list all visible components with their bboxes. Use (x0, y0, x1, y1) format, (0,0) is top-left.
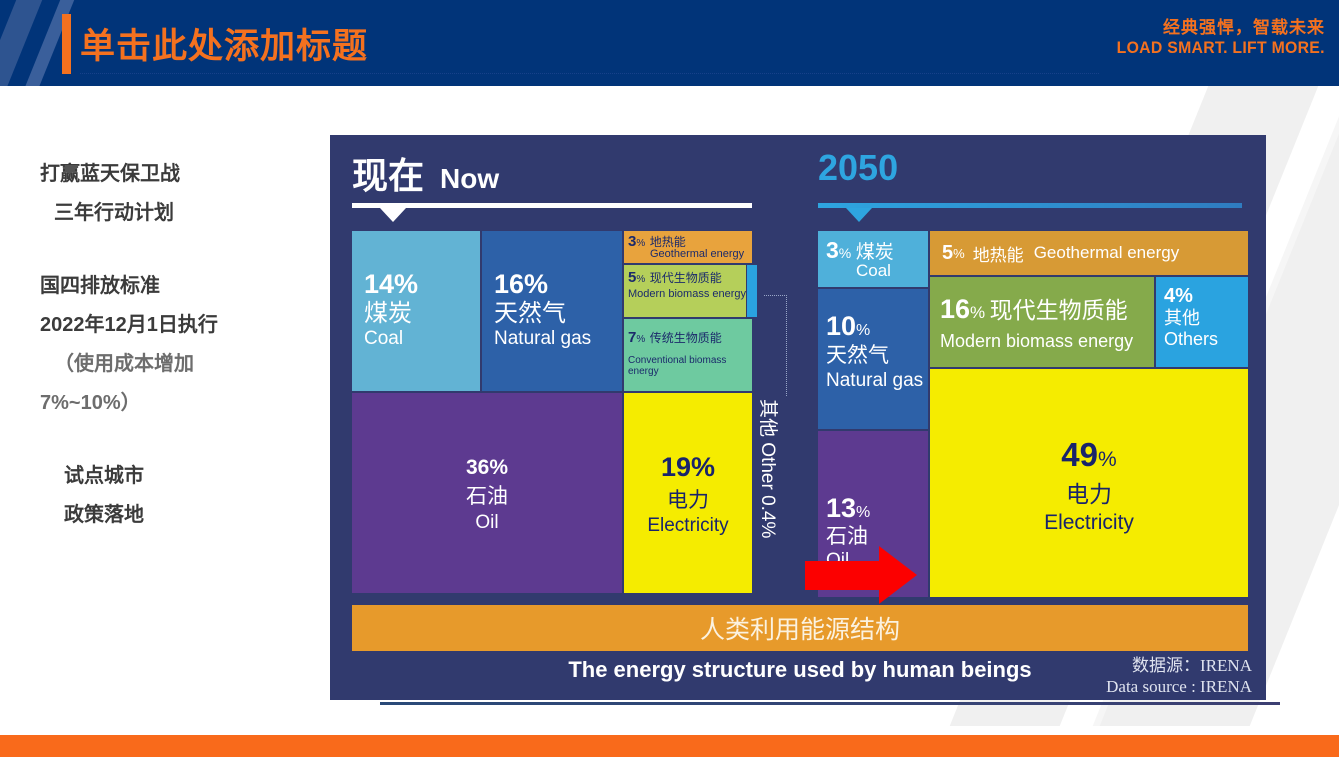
block-now-conv-biomass-cn: 传统生物质能 (650, 331, 722, 345)
block-now-electricity[interactable]: 19% 电力 Electricity (624, 393, 752, 593)
rule-bar-now (352, 203, 752, 208)
column-header-now: 现在 Now (352, 147, 499, 199)
block-2050-electricity-value: 49% (1061, 430, 1116, 480)
block-now-geothermal-cn: 地热能 (650, 235, 686, 249)
block-2050-oil-unit: % (856, 504, 870, 521)
chart-data-source-cn: 数据源：IRENA (1106, 655, 1252, 676)
block-now-coal-cn: 煤炭 (364, 300, 480, 328)
block-now-geothermal-en: Geothermal energy (650, 248, 752, 260)
block-now-conv-biomass-en: Conventional biomass energy (628, 355, 752, 377)
block-now-modern-biomass-unit: % (636, 274, 645, 285)
block-2050-others-pct: 4% (1164, 285, 1193, 307)
brand-slogan-cn: 经典强悍，智载未来 (1101, 17, 1325, 38)
column-header-2050-cn: 2050 (818, 147, 898, 189)
other-callout-line (764, 295, 787, 396)
left-line-7: 试点城市 (40, 457, 305, 496)
bottom-accent-bar (0, 735, 1339, 757)
column-rule-2050 (818, 203, 1242, 208)
block-now-gas-pct: 16% (494, 269, 548, 299)
rule-bar-2050 (818, 203, 1242, 208)
block-2050-gas-unit: % (856, 322, 870, 339)
left-line-5: （使用成本增加 (40, 345, 305, 384)
rule-pointer-2050 (846, 208, 872, 222)
block-now-geothermal[interactable]: 3% 地热能 Geothermal energy (624, 231, 752, 263)
left-line-2: 三年行动计划 (40, 194, 305, 233)
block-now-geothermal-unit: % (636, 238, 645, 249)
chart-caption-cn: 人类利用能源结构 (700, 610, 900, 646)
left-spacer (40, 233, 305, 267)
block-2050-geothermal-pct: 5 (942, 242, 953, 265)
block-2050-electricity-cn: 电力 (1066, 480, 1112, 510)
block-now-gas-cn: 天然气 (494, 300, 622, 328)
column-header-now-cn: 现在 (352, 147, 424, 199)
block-now-conv-biomass-unit: % (636, 334, 645, 345)
brand-block: 经典强悍，智载未来 LOAD SMART. LIFT MORE. (1101, 17, 1325, 59)
block-2050-coal-pct: 3 (826, 237, 839, 263)
block-now-modern-biomass-en: Modern biomass energy (628, 288, 746, 300)
block-now-coal-en: Coal (364, 328, 480, 351)
block-2050-gas-en: Natural gas (826, 369, 928, 393)
block-now-other-label: 其他 Other 0.4% (754, 393, 788, 593)
block-2050-modern-biomass-cn: 现代生物质能 (990, 297, 1128, 323)
block-now-oil-en: Oil (475, 511, 498, 535)
block-2050-others-en: Others (1164, 329, 1248, 350)
block-2050-coal[interactable]: 3% 煤炭 Coal (818, 231, 928, 287)
block-2050-oil-pct: 13 (826, 493, 856, 523)
block-now-modern-biomass[interactable]: 5% 现代生物质能 Modern biomass energy (624, 265, 746, 317)
block-2050-geothermal-en: Geothermal energy (1034, 243, 1180, 263)
bottom-divider-line (380, 702, 1280, 705)
red-arrow-head (879, 546, 917, 604)
block-2050-coal-unit: % (839, 245, 851, 261)
block-now-coal-pct: 14% (364, 269, 418, 299)
block-now-electricity-en: Electricity (647, 514, 728, 538)
block-now-electricity-cn: 电力 (667, 488, 709, 514)
left-line-4: 2022年12月1日执行 (40, 306, 305, 345)
block-2050-modern-biomass-en: Modern biomass energy (940, 331, 1154, 352)
block-now-gas-en: Natural gas (494, 328, 622, 351)
chart-caption-bar: 人类利用能源结构 (352, 605, 1248, 651)
left-line-3: 国四排放标准 (40, 267, 305, 306)
brand-slogan-en: LOAD SMART. LIFT MORE. (1117, 38, 1325, 58)
block-now-conventional-biomass[interactable]: 7% 传统生物质能 Conventional biomass energy (624, 319, 752, 391)
block-2050-coal-en: Coal (856, 261, 928, 281)
energy-structure-chart: 现在 Now 14% 煤炭 Coal 16% 天然气 Natural gas 3… (330, 135, 1266, 700)
block-2050-modern-biomass-pct: 16 (940, 294, 970, 324)
slide-header: 单击此处添加标题 经典强悍，智载未来 LOAD SMART. LIFT MORE… (0, 0, 1339, 86)
column-rule-now (352, 203, 752, 208)
block-now-oil-cn: 石油 (466, 483, 508, 510)
block-2050-electricity-pct: 49 (1061, 436, 1098, 473)
block-2050-coal-cn: 煤炭 (856, 242, 894, 263)
block-2050-electricity-unit: % (1098, 448, 1117, 471)
title-accent-bar (62, 14, 71, 74)
block-now-modern-biomass-cn: 现代生物质能 (650, 271, 722, 285)
block-2050-electricity-en: Electricity (1044, 510, 1134, 536)
rule-pointer-now (380, 208, 406, 222)
block-now-electricity-pct: 19% (661, 448, 715, 487)
red-arrow-shaft (805, 561, 883, 590)
block-now-oil-pct: 36% (466, 452, 508, 484)
block-2050-geothermal[interactable]: 5% 地热能 Geothermal energy (930, 231, 1248, 275)
block-2050-electricity[interactable]: 49% 电力 Electricity (930, 369, 1248, 597)
left-line-8: 政策落地 (40, 496, 305, 535)
column-header-now-en: Now (440, 163, 499, 195)
left-spacer-2 (40, 423, 305, 457)
chart-data-source-en: Data source : IRENA (1106, 676, 1252, 697)
block-now-natural-gas[interactable]: 16% 天然气 Natural gas (482, 231, 622, 391)
block-2050-others[interactable]: 4% 其他 Others (1156, 277, 1248, 367)
block-now-coal[interactable]: 14% 煤炭 Coal (352, 231, 480, 391)
block-2050-natural-gas[interactable]: 10% 天然气 Natural gas (818, 289, 928, 429)
block-2050-others-cn: 其他 (1164, 308, 1248, 329)
block-2050-geothermal-cn: 地热能 (973, 241, 1024, 266)
block-2050-gas-pct: 10 (826, 311, 856, 341)
page-title[interactable]: 单击此处添加标题 (80, 18, 368, 69)
left-line-1: 打赢蓝天保卫战 (40, 155, 305, 194)
block-2050-geothermal-unit: % (953, 246, 965, 261)
block-2050-modern-biomass[interactable]: 16% 现代生物质能 Modern biomass energy (930, 277, 1154, 367)
left-text-column[interactable]: 打赢蓝天保卫战 三年行动计划 国四排放标准 2022年12月1日执行 （使用成本… (40, 155, 305, 535)
block-2050-modern-biomass-unit: % (970, 303, 985, 322)
chart-data-source: 数据源：IRENA Data source : IRENA (1106, 655, 1252, 698)
title-placeholder-outline (80, 73, 1099, 74)
left-line-6: 7%~10%） (40, 384, 305, 423)
block-2050-gas-cn: 天然气 (826, 342, 928, 369)
column-header-2050: 2050 (818, 147, 898, 189)
block-now-other-sliver[interactable] (747, 265, 757, 317)
block-now-oil[interactable]: 36% 石油 Oil (352, 393, 622, 593)
block-now-other-text: 其他 Other 0.4% (756, 399, 783, 538)
